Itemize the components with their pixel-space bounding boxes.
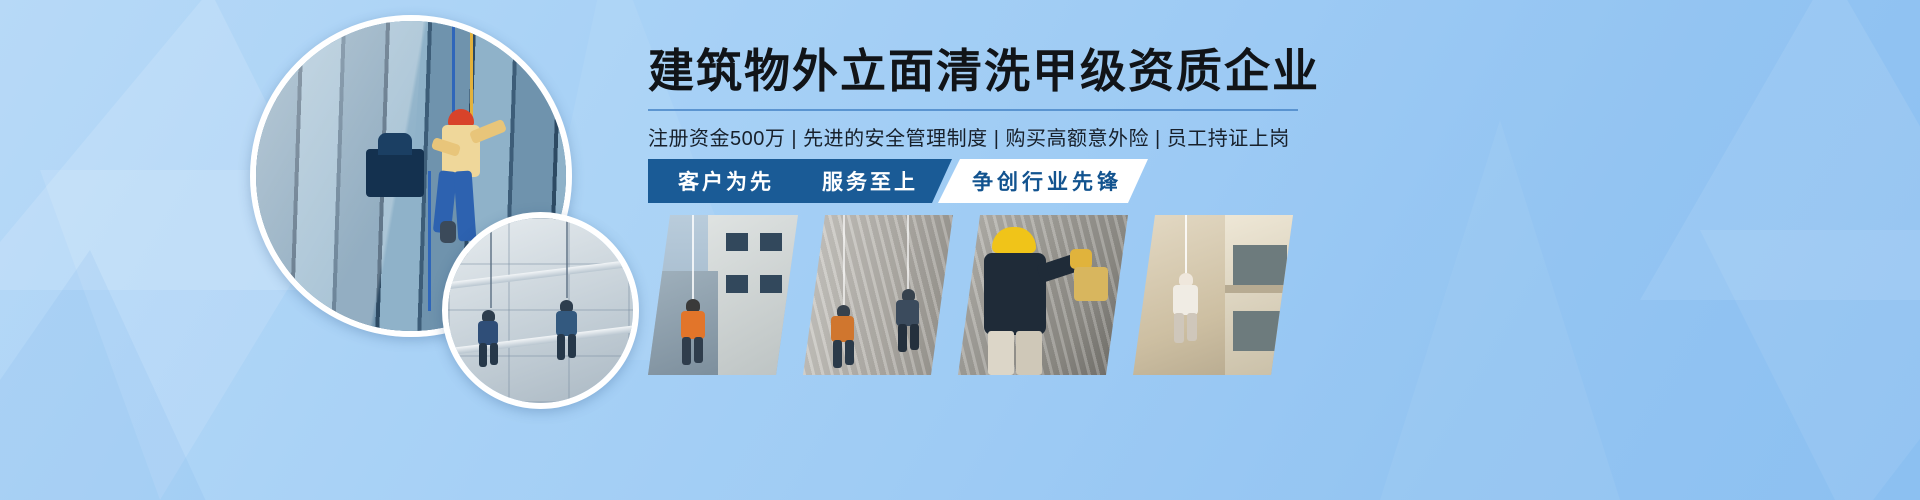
plaster-trowel — [1074, 267, 1108, 301]
slogan-ribbon-blue: 客户为先 服务至上 — [648, 159, 952, 203]
suspension-line — [907, 215, 909, 295]
slogan-industry-pioneer: 争创行业先锋 — [972, 166, 1122, 196]
photo-strip — [648, 215, 1298, 375]
worker-leg — [833, 340, 842, 368]
work-glove — [1070, 249, 1092, 269]
promo-banner: 建筑物外立面清洗甲级资质企业 注册资金500万 | 先进的安全管理制度 | 购买… — [0, 0, 1920, 500]
background-triangle-icon — [1700, 230, 1920, 500]
building-facade-image — [448, 218, 633, 403]
headline-block: 建筑物外立面清洗甲级资质企业 注册资金500万 | 先进的安全管理制度 | 购买… — [648, 48, 1298, 151]
worker-leg — [557, 334, 565, 360]
slogan-service-supreme: 服务至上 — [822, 166, 918, 196]
window — [1233, 245, 1287, 285]
background-triangle-icon — [1380, 120, 1620, 500]
worker-leg — [682, 337, 691, 365]
balcony-block — [1225, 215, 1293, 375]
building-block — [708, 215, 798, 375]
worker-leg — [490, 343, 498, 365]
window — [760, 233, 782, 251]
page-title: 建筑物外立面清洗甲级资质企业 — [648, 48, 1298, 94]
window — [1233, 311, 1287, 351]
title-divider — [648, 109, 1298, 111]
worker-torso — [556, 311, 577, 336]
equipment-bag-top — [378, 133, 412, 155]
window — [726, 275, 748, 293]
worker-leg — [1174, 313, 1184, 343]
window — [760, 275, 782, 293]
suspension-line — [1185, 215, 1187, 277]
worker-leg — [845, 340, 854, 365]
worker-leg — [1016, 331, 1042, 375]
worker-torso — [1173, 285, 1198, 315]
suspension-line — [490, 218, 492, 308]
worker-torso — [984, 253, 1046, 335]
slogan-customer-first: 客户为先 — [678, 166, 774, 196]
safety-rope — [428, 171, 431, 311]
worker-leg — [694, 337, 703, 363]
suspension-line — [843, 215, 845, 311]
worker-leg — [479, 343, 487, 367]
worker-vest — [831, 316, 854, 342]
window — [726, 233, 748, 251]
photo-panel-3 — [958, 215, 1128, 375]
worker-torso — [478, 321, 498, 345]
photo-panel-1 — [648, 215, 798, 375]
slogan-ribbon-white: 争创行业先锋 — [938, 159, 1148, 203]
worker-vest — [681, 311, 705, 339]
suspension-line — [692, 215, 694, 305]
slogan-ribbon: 客户为先 服务至上 争创行业先锋 — [648, 159, 1148, 203]
worker-leg — [988, 331, 1014, 375]
background-triangle-icon — [0, 250, 210, 500]
photo-panel-2 — [803, 215, 953, 375]
photo-panel-4 — [1133, 215, 1293, 375]
worker-leg — [898, 324, 907, 352]
balcony-ledge — [1225, 285, 1293, 293]
worker-leg — [1187, 313, 1197, 341]
suspension-line — [566, 218, 568, 298]
worker-torso — [896, 300, 919, 326]
wall-texture — [803, 215, 953, 375]
circle-photo-small — [442, 212, 639, 409]
equipment-bag — [366, 149, 424, 197]
subtitle-text: 注册资金500万 | 先进的安全管理制度 | 购买高额意外险 | 员工持证上岗 — [648, 122, 1298, 151]
worker-leg — [910, 324, 919, 350]
worker-leg — [568, 334, 576, 358]
